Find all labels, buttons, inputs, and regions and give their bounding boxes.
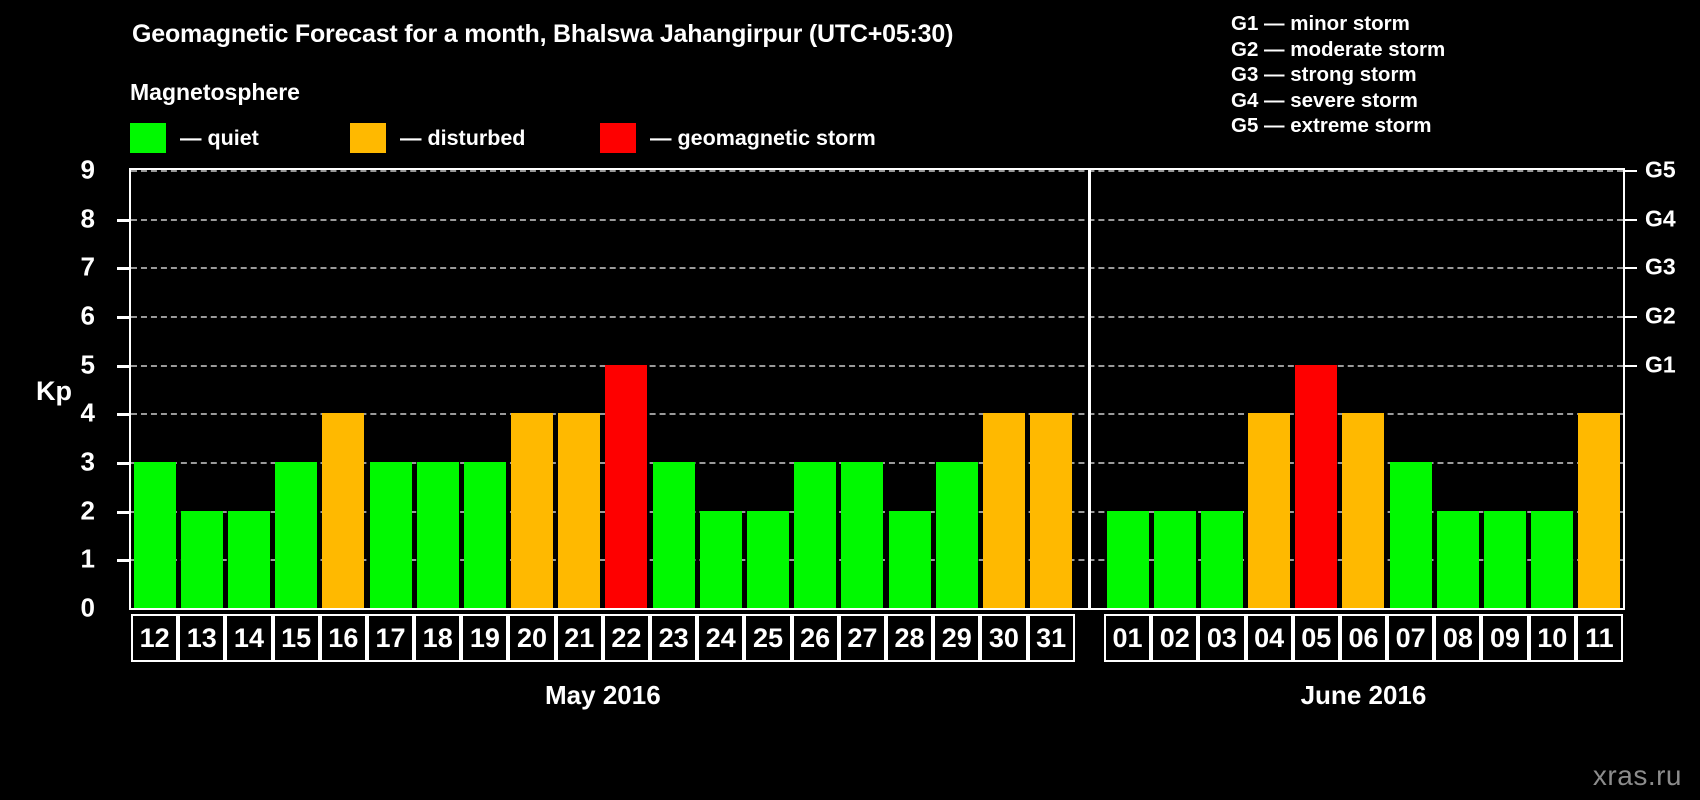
legend-label-disturbed: — disturbed [400,126,525,151]
bar-day-22[interactable] [605,365,647,608]
day-label-10[interactable]: 10 [1529,614,1576,662]
day-label-12[interactable]: 12 [131,614,178,662]
g-tick-mark-g3 [1625,267,1637,269]
g-tick-label-g2: G2 [1645,303,1676,330]
day-label-29[interactable]: 29 [933,614,980,662]
g-tick-label-g3: G3 [1645,254,1676,281]
day-label-13[interactable]: 13 [178,614,225,662]
day-label-11[interactable]: 11 [1576,614,1623,662]
y-tick-label-7: 7 [55,252,95,283]
day-label-24[interactable]: 24 [697,614,744,662]
bar-day-06[interactable] [1342,413,1384,608]
day-label-03[interactable]: 03 [1198,614,1245,662]
day-label-21[interactable]: 21 [556,614,603,662]
y-tick-mark-8 [117,219,129,222]
bar-day-30[interactable] [983,413,1025,608]
legend-swatch-quiet-icon [130,123,166,153]
bar-day-10[interactable] [1531,511,1573,608]
g-scale-row-g3: G3 — strong storm [1231,62,1445,88]
bar-day-25[interactable] [747,511,789,608]
day-label-26[interactable]: 26 [792,614,839,662]
month-caption-may: May 2016 [545,680,661,711]
day-label-01[interactable]: 01 [1104,614,1151,662]
gridline-kp-9 [131,170,1623,172]
legend-entry-storm: — geomagnetic storm [600,123,876,153]
y-tick-label-8: 8 [55,203,95,234]
plot-area [129,168,1625,610]
g-tick-mark-g1 [1625,365,1637,367]
bar-day-29[interactable] [936,462,978,608]
day-label-16[interactable]: 16 [320,614,367,662]
day-label-15[interactable]: 15 [273,614,320,662]
day-label-04[interactable]: 04 [1246,614,1293,662]
legend-swatch-storm-icon [600,123,636,153]
day-label-23[interactable]: 23 [650,614,697,662]
bar-day-23[interactable] [653,462,695,608]
day-label-30[interactable]: 30 [980,614,1027,662]
bar-day-15[interactable] [275,462,317,608]
g-tick-mark-g4 [1625,219,1637,221]
day-label-19[interactable]: 19 [461,614,508,662]
g-tick-label-g4: G4 [1645,205,1676,232]
day-label-02[interactable]: 02 [1151,614,1198,662]
g-tick-mark-g2 [1625,316,1637,318]
bar-day-05[interactable] [1295,365,1337,608]
bar-day-19[interactable] [464,462,506,608]
y-tick-mark-5 [117,365,129,368]
g-scale-legend: G1 — minor storm G2 — moderate storm G3 … [1231,11,1445,139]
y-tick-mark-4 [117,413,129,416]
bar-day-31[interactable] [1030,413,1072,608]
bar-day-08[interactable] [1437,511,1479,608]
y-tick-mark-3 [117,462,129,465]
y-tick-mark-7 [117,267,129,270]
y-tick-label-9: 9 [55,155,95,186]
page-title: Geomagnetic Forecast for a month, Bhalsw… [132,20,953,49]
bar-day-26[interactable] [794,462,836,608]
y-tick-mark-6 [117,316,129,319]
plot-inner [131,170,1623,608]
y-tick-mark-1 [117,559,129,562]
y-tick-mark-2 [117,511,129,514]
day-label-09[interactable]: 09 [1481,614,1528,662]
g-scale-row-g5: G5 — extreme storm [1231,113,1445,139]
g-tick-label-g5: G5 [1645,157,1676,184]
month-divider [1088,170,1091,608]
bar-day-07[interactable] [1390,462,1432,608]
day-label-06[interactable]: 06 [1340,614,1387,662]
y-tick-label-1: 1 [55,544,95,575]
bar-day-12[interactable] [134,462,176,608]
bar-day-01[interactable] [1107,511,1149,608]
y-tick-label-4: 4 [55,398,95,429]
legend-label-storm: — geomagnetic storm [650,126,876,151]
y-tick-label-5: 5 [55,349,95,380]
month-caption-june: June 2016 [1301,680,1427,711]
magnetosphere-label: Magnetosphere [130,79,300,106]
bar-day-04[interactable] [1248,413,1290,608]
g-scale-row-g2: G2 — moderate storm [1231,37,1445,63]
bar-day-14[interactable] [228,511,270,608]
bar-day-11[interactable] [1578,413,1620,608]
legend-label-quiet: — quiet [180,126,259,151]
day-label-28[interactable]: 28 [886,614,933,662]
day-label-05[interactable]: 05 [1293,614,1340,662]
watermark: xras.ru [1593,760,1682,792]
day-label-18[interactable]: 18 [414,614,461,662]
g-tick-label-g1: G1 [1645,351,1676,378]
g-scale-row-g1: G1 — minor storm [1231,11,1445,37]
bar-day-27[interactable] [841,462,883,608]
g-tick-mark-g5 [1625,170,1637,172]
bar-day-02[interactable] [1154,511,1196,608]
bar-day-13[interactable] [181,511,223,608]
y-tick-label-6: 6 [55,301,95,332]
legend-entry-disturbed: — disturbed [350,123,525,153]
bar-day-24[interactable] [700,511,742,608]
day-label-08[interactable]: 08 [1434,614,1481,662]
gridline-kp-6 [131,316,1623,318]
bar-day-28[interactable] [889,511,931,608]
g-scale-row-g4: G4 — severe storm [1231,88,1445,114]
bar-day-21[interactable] [558,413,600,608]
bar-day-18[interactable] [417,462,459,608]
y-tick-label-2: 2 [55,495,95,526]
day-label-20[interactable]: 20 [508,614,555,662]
legend-swatch-disturbed-icon [350,123,386,153]
day-label-22[interactable]: 22 [603,614,650,662]
bar-day-09[interactable] [1484,511,1526,608]
y-tick-label-0: 0 [55,593,95,624]
day-label-31[interactable]: 31 [1028,614,1075,662]
bar-day-20[interactable] [511,413,553,608]
day-label-14[interactable]: 14 [225,614,272,662]
y-tick-label-3: 3 [55,447,95,478]
gridline-kp-7 [131,267,1623,269]
day-label-25[interactable]: 25 [744,614,791,662]
gridline-kp-5 [131,365,1623,367]
day-label-17[interactable]: 17 [367,614,414,662]
legend-entry-quiet: — quiet [130,123,259,153]
bar-day-16[interactable] [322,413,364,608]
gridline-kp-8 [131,219,1623,221]
day-label-07[interactable]: 07 [1387,614,1434,662]
day-label-27[interactable]: 27 [839,614,886,662]
bar-day-03[interactable] [1201,511,1243,608]
bar-day-17[interactable] [370,462,412,608]
